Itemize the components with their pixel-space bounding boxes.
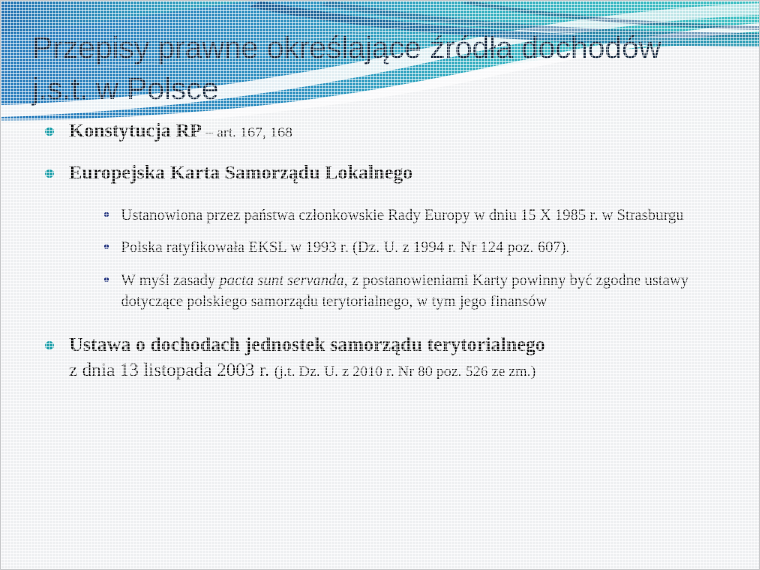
- sub-bullet-ustanowiona-text: Ustanowiona przez państwa członkowskie R…: [121, 207, 684, 224]
- bullet-ustawa-citation: (j.t. Dz. U. z 2010 r. Nr 80 poz. 526 ze…: [274, 364, 536, 380]
- bullet-ustawa-o-dochodach: Ustawa o dochodach jednostek samorządu t…: [1, 333, 760, 385]
- sub-bullet-ustanowiona: Ustanowiona przez państwa członkowskie R…: [1, 205, 760, 226]
- sub-bullet-pacta-italic-phrase: pacta sunt servanda: [219, 272, 344, 289]
- sub-bullet-dot-icon: [104, 244, 109, 249]
- sub-bullet-pacta-prefix: W myśl zasady: [121, 272, 219, 289]
- bullet-europejska-karta: Europejska Karta Samorządu Lokalnego: [1, 161, 760, 186]
- sub-bullet-pacta-sunt-servanda: W myśl zasady pacta sunt servanda, z pos…: [1, 270, 760, 312]
- bullet-europejska-karta-label: Europejska Karta Samorządu Lokalnego: [69, 163, 413, 184]
- bullet-konstytucja-label: Konstytucja RP: [69, 121, 202, 142]
- bullet-ustawa-date: z dnia 13 listopada 2003 r.: [69, 360, 274, 381]
- sub-bullet-dot-icon: [104, 277, 109, 282]
- slide-title: Przepisy prawne określające źródła docho…: [32, 27, 722, 109]
- slide-body-content: Konstytucja RP – art. 167, 168 Europejsk…: [1, 119, 760, 391]
- sub-bullet-ratyfikacja-text: Polska ratyfikowała EKSL w 1993 r. (Dz. …: [121, 239, 566, 256]
- bullet-konstytucja-dash: –: [202, 125, 217, 141]
- bullet-ustawa-label: Ustawa o dochodach jednostek samorządu t…: [69, 335, 545, 356]
- bullet-konstytucja-articles: art. 167, 168: [217, 125, 293, 141]
- sub-bullet-ratyfikacja-period: .: [566, 241, 570, 256]
- sub-bullet-dot-icon: [104, 212, 109, 217]
- bullet-dot-icon: [45, 127, 54, 136]
- bullet-dot-icon: [45, 169, 54, 178]
- presentation-slide: Przepisy prawne określające źródła docho…: [0, 0, 760, 570]
- bullet-konstytucja: Konstytucja RP – art. 167, 168: [1, 119, 760, 146]
- sub-bullet-ratyfikacja: Polska ratyfikowała EKSL w 1993 r. (Dz. …: [1, 237, 760, 259]
- bullet-dot-icon: [45, 341, 54, 350]
